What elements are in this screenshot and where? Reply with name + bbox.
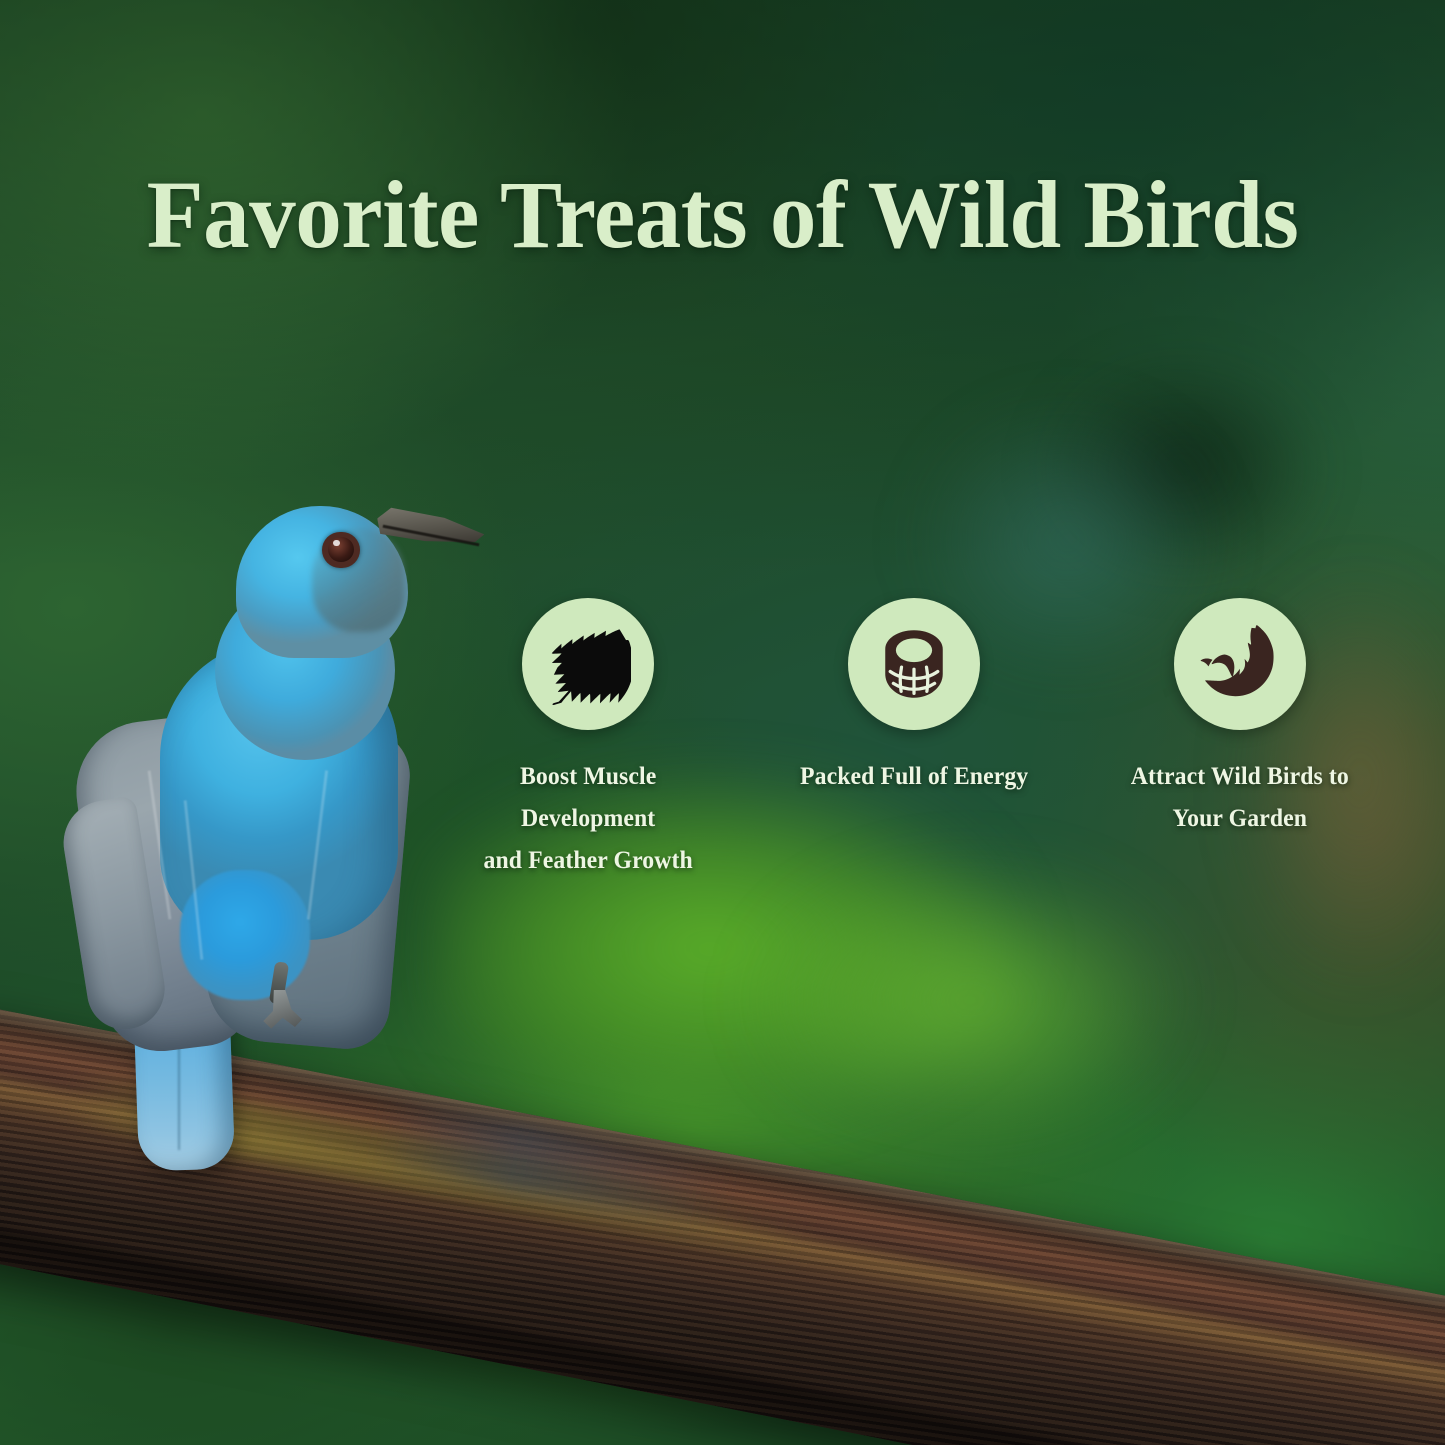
feature-caption: Packed Full of Energy xyxy=(800,756,1028,798)
feature-item-energy: Packed Full of Energy xyxy=(751,598,1077,898)
flying-bird-icon xyxy=(1198,622,1282,706)
feather-icon xyxy=(545,621,631,707)
bird-eye-highlight xyxy=(333,540,340,546)
feature-icon-badge xyxy=(848,598,980,730)
feature-icon-badge xyxy=(522,598,654,730)
promo-image-canvas: Boost Muscle Development and Feather Gro… xyxy=(0,0,1445,1445)
feature-item-muscle-development: Boost Muscle Development and Feather Gro… xyxy=(425,598,751,898)
bird-eye xyxy=(328,537,354,562)
feature-caption: Attract Wild Birds to Your Garden xyxy=(1131,756,1349,840)
suet-seed-cake-icon xyxy=(874,624,954,704)
blue-bird xyxy=(40,470,470,1170)
feature-icon-badge xyxy=(1174,598,1306,730)
feature-benefits-row: Boost Muscle Development and Feather Gro… xyxy=(425,598,1405,898)
feature-caption: Boost Muscle Development and Feather Gro… xyxy=(483,756,692,882)
page-title: Favorite Treats of Wild Birds xyxy=(22,160,1424,270)
feature-item-attract-birds: Attract Wild Birds to Your Garden xyxy=(1077,598,1403,898)
